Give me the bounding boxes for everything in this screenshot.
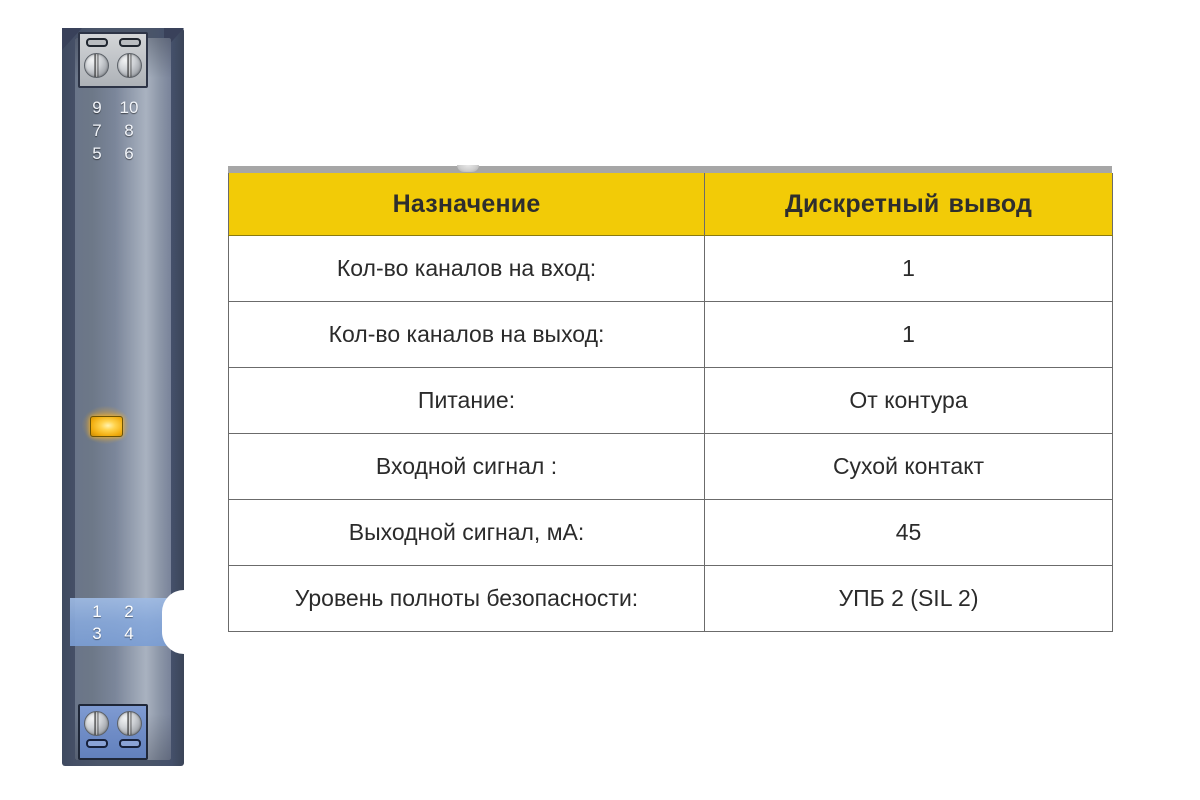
top-terminal-block xyxy=(78,32,148,88)
device-module-illustration: 9 10 7 8 5 6 1 2 3 4 xyxy=(62,28,184,766)
terminal-slot-icon xyxy=(119,739,141,748)
row-value: 1 xyxy=(705,236,1113,302)
table-header-row: Назначение Дискретныйвывод xyxy=(229,173,1113,236)
terminal-screw-icon xyxy=(117,711,142,736)
band-notch-cutout xyxy=(162,590,196,654)
row-label: Питание: xyxy=(229,368,705,434)
terminal-number: 4 xyxy=(118,623,140,645)
table-row: Выходной сигнал, мА: 45 xyxy=(229,500,1113,566)
bottom-terminal-slot-row xyxy=(80,739,146,748)
column-header-discrete-output: Дискретныйвывод xyxy=(705,173,1113,236)
table-header: Назначение Дискретныйвывод xyxy=(229,173,1113,236)
row-label: Кол-во каналов на вход: xyxy=(229,236,705,302)
row-value: УПБ 2 (SIL 2) xyxy=(705,566,1113,632)
row-value: 1 xyxy=(705,302,1113,368)
top-terminal-slot-row xyxy=(80,38,146,47)
table-row: Кол-во каналов на вход: 1 xyxy=(229,236,1113,302)
row-value: 45 xyxy=(705,500,1113,566)
table-strip-notch xyxy=(457,165,479,172)
column-header-purpose: Назначение xyxy=(229,173,705,236)
table-body: Кол-во каналов на вход: 1 Кол-во каналов… xyxy=(229,236,1113,632)
terminal-slot-icon xyxy=(86,38,108,47)
table-row: Кол-во каналов на выход: 1 xyxy=(229,302,1113,368)
table-row: Питание: От контура xyxy=(229,368,1113,434)
status-led-icon xyxy=(90,416,123,437)
row-label: Выходной сигнал, мА: xyxy=(229,500,705,566)
specification-table: Назначение Дискретныйвывод Кол-во канало… xyxy=(228,173,1113,632)
terminal-number: 1 xyxy=(86,601,108,623)
bottom-terminal-screw-row xyxy=(80,711,146,736)
top-terminal-screw-row xyxy=(80,53,146,78)
bottom-terminal-numbers: 1 2 3 4 xyxy=(82,601,144,645)
terminal-number: 5 xyxy=(86,142,108,165)
terminal-number: 10 xyxy=(118,96,140,119)
row-label: Кол-во каналов на выход: xyxy=(229,302,705,368)
terminal-screw-icon xyxy=(84,711,109,736)
top-terminal-numbers: 9 10 7 8 5 6 xyxy=(82,96,144,165)
table-row: Уровень полноты безопасности: УПБ 2 (SIL… xyxy=(229,566,1113,632)
row-label: Входной сигнал : xyxy=(229,434,705,500)
terminal-number: 9 xyxy=(86,96,108,119)
table-top-strip xyxy=(228,166,1112,173)
terminal-slot-icon xyxy=(86,739,108,748)
terminal-number-row: 7 8 xyxy=(82,119,144,142)
column-header-word-2: вывод xyxy=(948,190,1032,218)
terminal-number: 8 xyxy=(118,119,140,142)
bottom-terminal-block xyxy=(78,704,148,760)
terminal-number: 2 xyxy=(118,601,140,623)
terminal-number: 7 xyxy=(86,119,108,142)
terminal-number: 3 xyxy=(86,623,108,645)
terminal-number: 6 xyxy=(118,142,140,165)
terminal-number-row: 3 4 xyxy=(82,623,144,645)
terminal-slot-icon xyxy=(119,38,141,47)
row-value: От контура xyxy=(705,368,1113,434)
terminal-number-row: 5 6 xyxy=(82,142,144,165)
column-header-word-1: Дискретный xyxy=(785,190,940,218)
specification-table-container: Назначение Дискретныйвывод Кол-во канало… xyxy=(228,166,1112,632)
terminal-screw-icon xyxy=(84,53,109,78)
row-label: Уровень полноты безопасности: xyxy=(229,566,705,632)
terminal-number-row: 1 2 xyxy=(82,601,144,623)
row-value: Сухой контакт xyxy=(705,434,1113,500)
terminal-screw-icon xyxy=(117,53,142,78)
terminal-number-row: 9 10 xyxy=(82,96,144,119)
table-row: Входной сигнал : Сухой контакт xyxy=(229,434,1113,500)
